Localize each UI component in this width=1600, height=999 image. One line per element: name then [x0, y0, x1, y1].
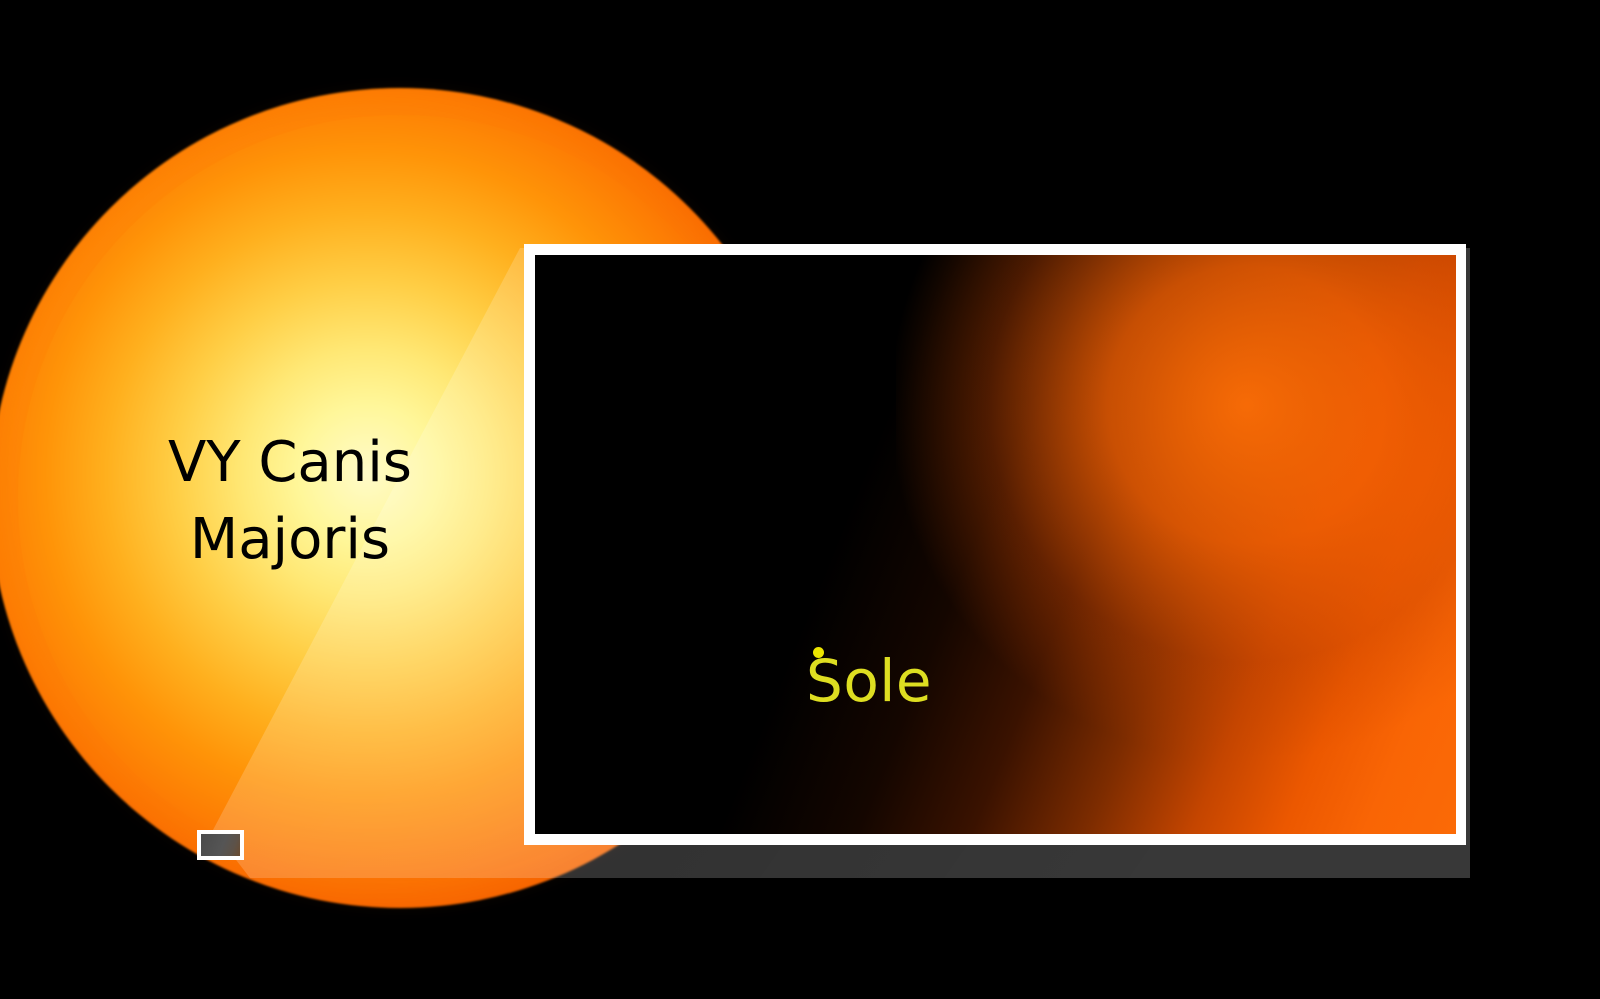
sun-label: Sole: [806, 652, 932, 710]
star-size-comparison-figure: VY Canis Majoris Sole: [0, 0, 1600, 999]
vy-canis-majoris-label: VY Canis Majoris: [120, 424, 460, 579]
sun-comparison-frame: [524, 244, 1466, 845]
sun-comparison-box: [535, 255, 1456, 834]
scale-reference-rect: [197, 830, 244, 860]
scale-reference-rect-inner: [201, 834, 240, 856]
